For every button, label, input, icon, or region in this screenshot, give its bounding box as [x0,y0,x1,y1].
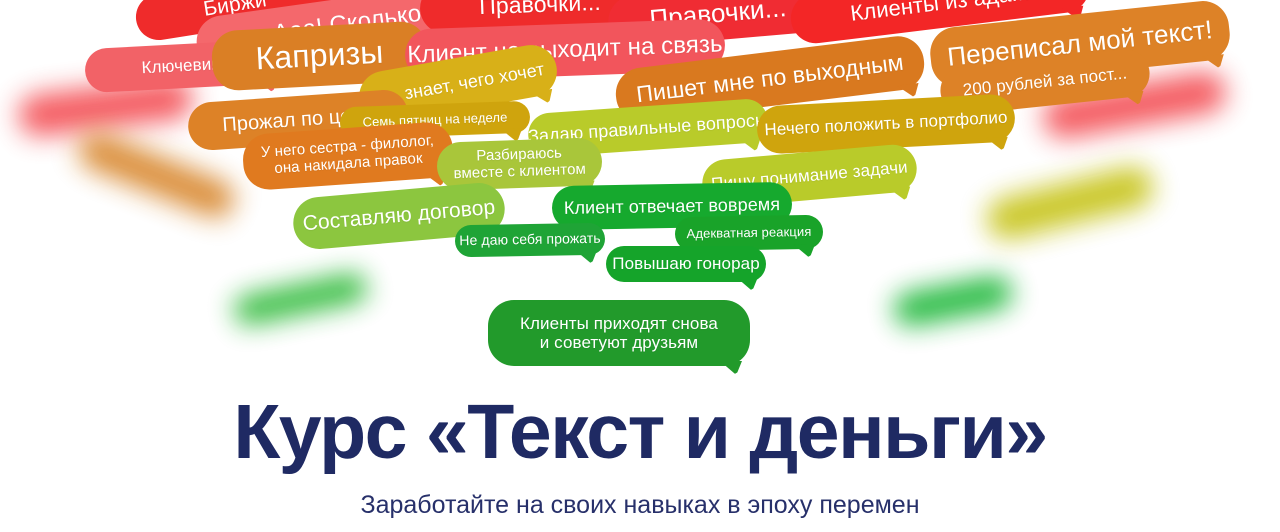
heading-block: Курс «Текст и деньги» Заработайте на сво… [0,386,1280,520]
speech-bubble-cloud: БиржиАаа! Сколько можно!Правочки...Право… [0,0,1280,390]
blurred-bubble [891,273,1015,329]
speech-bubble: Разбираюсь вместе с клиентом [436,137,603,191]
landing-hero: БиржиАаа! Сколько можно!Правочки...Право… [0,0,1280,532]
speech-bubble: Не даю себя прожать [455,223,606,258]
speech-bubble: Повышаю гонорар [606,246,766,282]
speech-bubble: Клиенты приходят снова и советуют друзья… [488,300,750,366]
blurred-bubble [231,270,369,327]
page-title: Курс «Текст и деньги» [0,386,1280,478]
page-subtitle: Заработайте на своих навыках в эпоху пер… [0,490,1280,520]
blurred-bubble [982,162,1157,244]
